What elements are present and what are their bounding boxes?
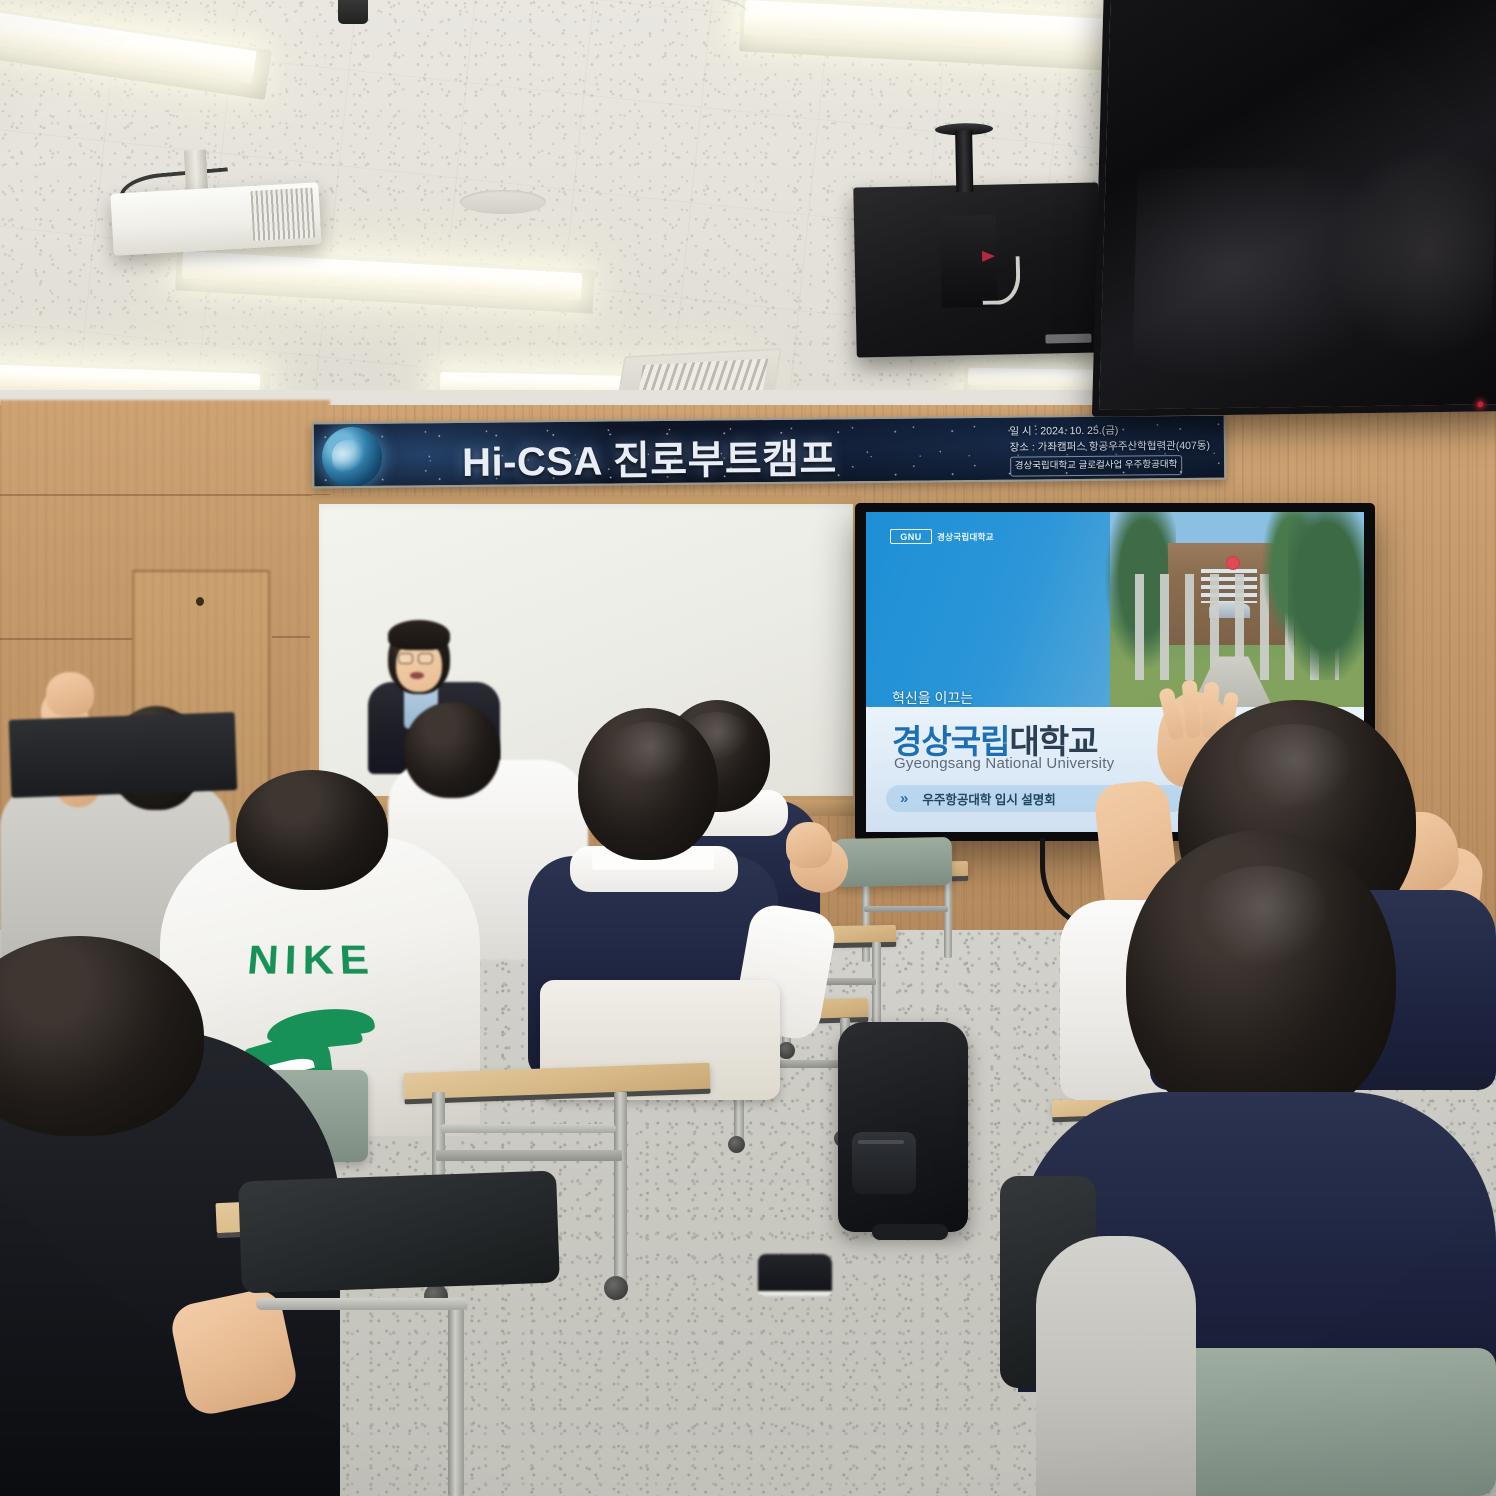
presenter-mouth (410, 672, 424, 679)
shoe (758, 1254, 832, 1296)
tv-power-led-icon (1477, 401, 1483, 407)
large-tv-screen (1092, 0, 1496, 417)
raised-hand (46, 672, 94, 716)
tree-right (1288, 512, 1364, 680)
desk-caster (604, 1276, 628, 1300)
desk-caster (728, 1136, 745, 1153)
gnu-mark-icon: GNU (890, 529, 932, 544)
presenter-hair (388, 620, 450, 650)
wall-seam-2 (0, 638, 140, 640)
jacket-on-desk (238, 1170, 560, 1293)
slide-university-name-en: Gyeongsang National University (894, 755, 1114, 772)
banner-title: Hi-CSA 진로부트캠프 (462, 426, 837, 488)
laptop[interactable] (9, 712, 238, 798)
shoe-sole (758, 1291, 832, 1296)
backpack (838, 1022, 968, 1232)
classroom-photo-scene: Hi-CSA 진로부트캠프 일 시 : 2024. 10. 25.(금) 장소 … (0, 0, 1496, 1496)
event-banner: Hi-CSA 진로부트캠프 일 시 : 2024. 10. 25.(금) 장소 … (312, 414, 1227, 489)
nike-student-head (236, 770, 388, 890)
gnu-logo: GNU 경상국립대학교 (890, 529, 994, 544)
earth-globe-icon (322, 427, 383, 488)
ceiling-projector (110, 182, 321, 256)
slide-kicker: 혁신을 이끄는 (892, 688, 973, 708)
backpack-zipper (858, 1140, 904, 1144)
desk-rail (436, 1150, 622, 1161)
desk-cable-tray (256, 1298, 468, 1310)
student-torso (1036, 1236, 1196, 1496)
slide-session-label: 우주항공대학 입시 설명회 (922, 789, 1055, 808)
desk-leg (614, 1092, 627, 1288)
gnu-logo-korean: 경상국립대학교 (937, 531, 994, 543)
banner-date: 일 시 : 2024. 10. 25.(금) (1009, 422, 1210, 440)
desk-rail (864, 906, 948, 912)
banner-place: 장소 : 가좌캠퍼스 항공우주산학협력관(407동) (1009, 438, 1210, 456)
hair-highlight (1188, 866, 1338, 974)
backpack-handle (872, 1224, 948, 1240)
desk-leg (448, 1300, 464, 1496)
eyeglasses-icon-right (418, 653, 433, 664)
banner-meta: 일 시 : 2024. 10. 25.(금) 장소 : 가좌캠퍼스 항공우주산학… (1009, 422, 1210, 477)
wall-seam-1 (0, 494, 330, 496)
monitor-label-sticker (1045, 334, 1091, 344)
banner-clip (338, 0, 368, 24)
desk-caster (778, 1042, 795, 1059)
tv-glare-right (1328, 148, 1496, 357)
eyeglasses-icon-left (398, 653, 413, 664)
monitor-cable (982, 256, 1021, 305)
nike-wordmark: NIKE (191, 938, 430, 985)
student-head (404, 702, 500, 798)
hair-highlight (604, 722, 696, 788)
hair-highlight (1228, 724, 1360, 818)
chevron-right-icon: » (900, 790, 908, 807)
backpack-strap (932, 1028, 954, 1178)
chair-back[interactable] (834, 837, 953, 887)
ceiling-monitor-rear (853, 182, 1102, 357)
student-hand (786, 822, 832, 868)
building-crest-icon (1226, 556, 1240, 570)
projector-vent (250, 188, 315, 241)
desk-cable-tray (440, 1124, 616, 1133)
door-knob-icon[interactable] (196, 597, 204, 606)
desk-leg (862, 876, 870, 962)
monitor-pole (955, 130, 973, 192)
desk-leg (944, 876, 952, 958)
campus-photo (1110, 512, 1364, 707)
banner-organizer: 경상국립대학교 글로컬사업 우주항공대학 (1010, 455, 1183, 477)
ceiling-speaker-icon (460, 190, 546, 214)
